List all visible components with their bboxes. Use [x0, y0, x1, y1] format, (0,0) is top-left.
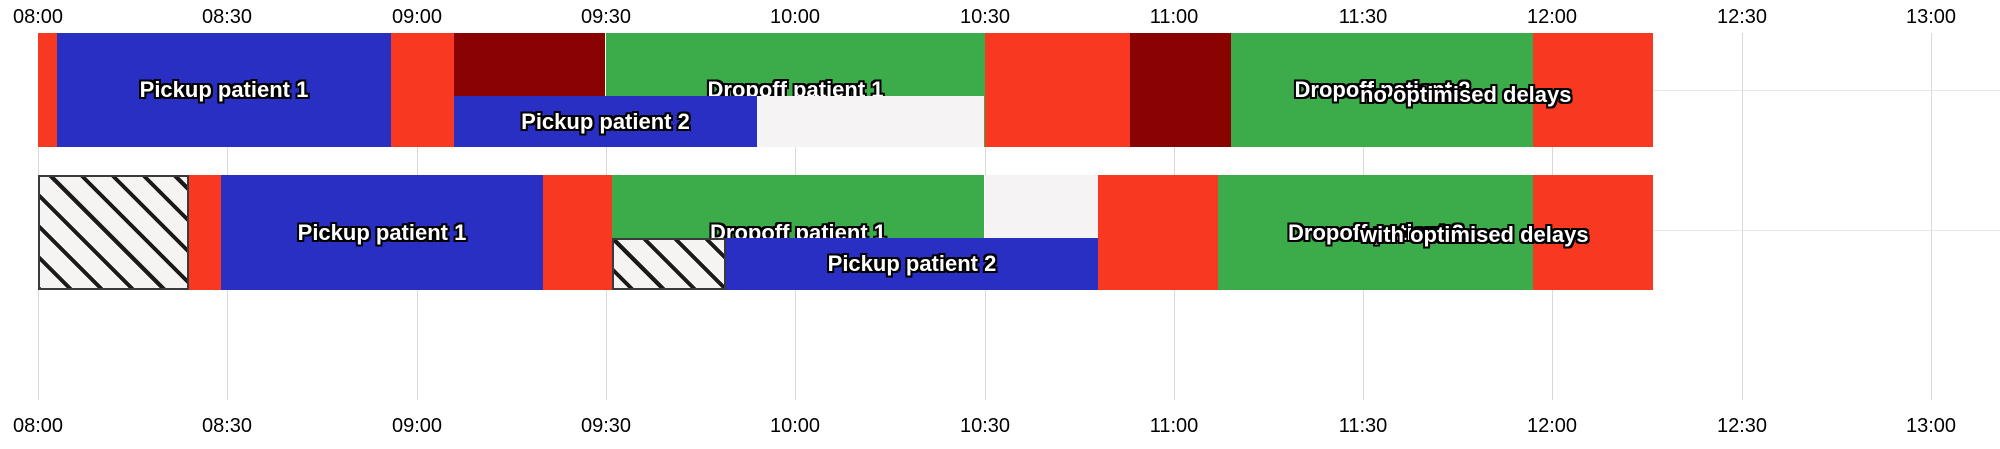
tick-label-1130: 11:30	[1339, 415, 1388, 438]
tick-label-1200: 12:00	[1527, 6, 1577, 29]
bar-segment-pickup[interactable]: Pickup patient 1	[221, 175, 543, 290]
bar-segment-optimised-delay[interactable]	[612, 238, 726, 290]
tick-label-1130: 11:30	[1339, 6, 1388, 29]
bar-segment-optimised-delay[interactable]	[38, 175, 189, 290]
series-label-no-optimised-delays: no optimised delays	[1360, 82, 1572, 108]
tick-label-0830: 08:30	[202, 6, 252, 29]
bar-segment-pickup[interactable]: Pickup patient 2	[454, 96, 757, 147]
bar-segment-travel[interactable]	[1098, 175, 1218, 290]
bar-segment-travel[interactable]	[543, 175, 612, 290]
tick-label-0930: 09:30	[581, 415, 631, 438]
tick-label-1100: 11:00	[1150, 415, 1199, 438]
bar-segment-travel[interactable]	[189, 175, 221, 290]
tick-label-0800: 08:00	[13, 415, 63, 438]
series-label-with-optimised-delays: with optimised delays	[1360, 222, 1589, 248]
bar-segment-travel[interactable]	[985, 33, 1130, 147]
bar-segment-travel[interactable]	[391, 33, 454, 147]
gridline-1300	[1931, 33, 1932, 400]
tick-label-1300: 13:00	[1906, 415, 1956, 438]
bar-segment-label: Pickup patient 1	[57, 77, 391, 103]
bar-segment-label: Pickup patient 2	[726, 251, 1098, 277]
tick-label-0830: 08:30	[202, 415, 252, 438]
tick-label-1030: 10:30	[960, 415, 1010, 438]
bar-segment-pickup[interactable]: Pickup patient 1	[57, 33, 391, 147]
tick-label-1100: 11:00	[1150, 6, 1199, 29]
bar-segment-label: Pickup patient 2	[454, 109, 757, 135]
tick-label-1230: 12:30	[1717, 6, 1767, 29]
tick-label-1030: 10:30	[960, 6, 1010, 29]
tick-label-1230: 12:30	[1717, 415, 1767, 438]
tick-label-0930: 09:30	[581, 6, 631, 29]
bar-segment-pickup[interactable]: Pickup patient 2	[726, 238, 1098, 290]
gantt-timeline-chart: 08:0008:3009:0009:3010:0010:3011:0011:30…	[0, 0, 2000, 449]
tick-label-1000: 10:00	[770, 6, 820, 29]
tick-label-1000: 10:00	[770, 415, 820, 438]
tick-label-1200: 12:00	[1527, 415, 1577, 438]
bar-segment-travel[interactable]	[38, 33, 57, 147]
tick-label-0900: 09:00	[392, 6, 442, 29]
tick-label-0800: 08:00	[13, 6, 63, 29]
tick-label-1300: 13:00	[1906, 6, 1956, 29]
bar-segment-label: Pickup patient 1	[221, 220, 543, 246]
bar-segment-wait[interactable]	[1130, 33, 1231, 147]
tick-label-0900: 09:00	[392, 415, 442, 438]
gridline-1230	[1742, 33, 1743, 400]
bar-segment-idle[interactable]	[757, 96, 984, 147]
